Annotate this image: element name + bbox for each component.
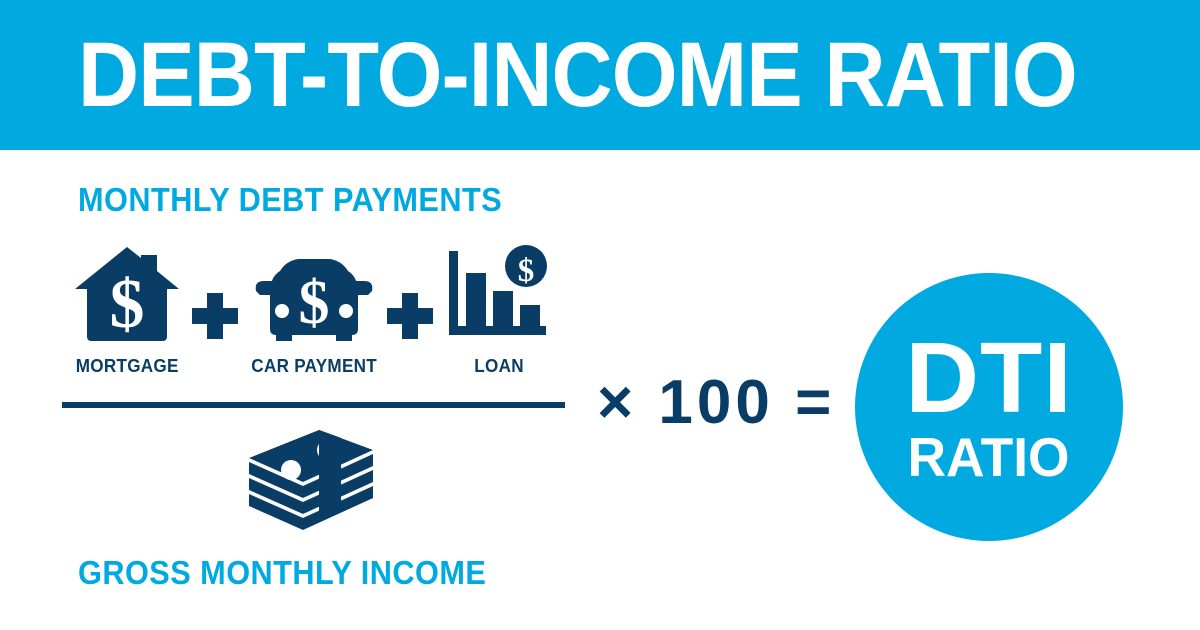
dti-abbrev-text: DTI bbox=[905, 331, 1072, 425]
plus-operator-icon bbox=[387, 293, 433, 339]
numerator-heading: MONTHLY DEBT PAYMENTS bbox=[78, 183, 502, 216]
header-banner: DEBT-TO-INCOME RATIO bbox=[0, 0, 1200, 150]
house-dollar-icon: $ bbox=[69, 245, 185, 343]
debt-item-car-payment: $ CAR PAYMENT bbox=[249, 243, 379, 383]
bar-chart-coin-icon-box: $ bbox=[447, 243, 551, 343]
page-title: DEBT-TO-INCOME RATIO bbox=[78, 29, 1077, 121]
svg-text:$: $ bbox=[110, 266, 145, 343]
denominator-heading: GROSS MONTHLY INCOME bbox=[78, 556, 486, 589]
fraction-divider-bar bbox=[62, 402, 565, 408]
money-stack-icon bbox=[245, 428, 390, 533]
money-stack-icon-box bbox=[245, 428, 390, 533]
plus-operator-icon bbox=[192, 293, 238, 339]
plus-bar-vertical bbox=[207, 293, 223, 339]
debt-item-loan: $ LOAN bbox=[434, 243, 564, 383]
svg-text:$: $ bbox=[518, 253, 535, 289]
debt-item-label: LOAN bbox=[474, 357, 524, 375]
svg-text:$: $ bbox=[299, 269, 330, 337]
dti-result-circle: DTI RATIO bbox=[855, 273, 1123, 541]
debt-item-mortgage: $ MORTGAGE bbox=[62, 243, 192, 383]
formula-expression: × 100 = bbox=[597, 372, 835, 434]
debt-items-row: $ MORTGAGE $ bbox=[62, 243, 567, 383]
dti-subtitle-text: RATIO bbox=[908, 431, 1070, 483]
debt-item-label: CAR PAYMENT bbox=[251, 357, 377, 375]
bar-chart-coin-icon: $ bbox=[447, 245, 551, 343]
car-dollar-icon: $ bbox=[254, 257, 374, 343]
house-dollar-icon-box: $ bbox=[69, 243, 185, 343]
debt-item-label: MORTGAGE bbox=[76, 357, 179, 375]
plus-bar-vertical bbox=[402, 293, 418, 339]
car-dollar-icon-box: $ bbox=[254, 243, 374, 343]
